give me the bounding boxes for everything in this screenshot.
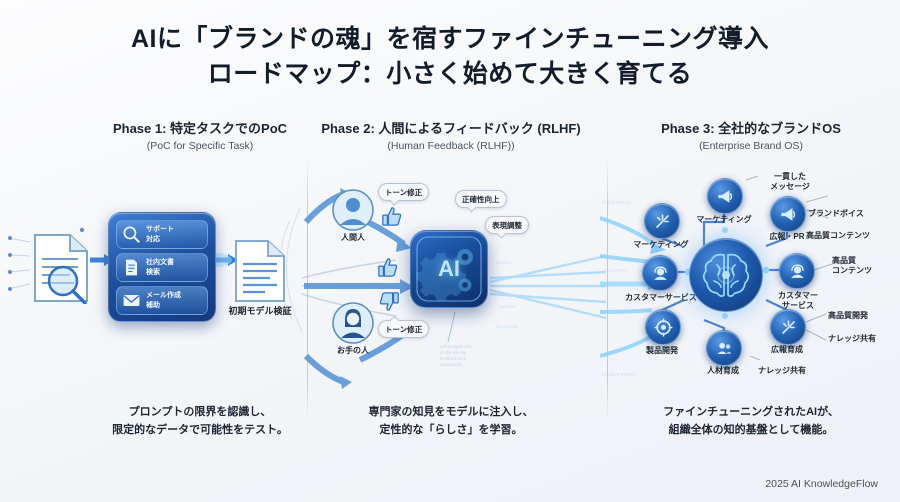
megaphone-icon (779, 205, 798, 224)
task-item-mail-assist[interactable]: メール作成 補助 (116, 286, 208, 315)
phase-2-title-en: (Human Feedback (RLHF)) (301, 140, 601, 152)
document-icon (122, 258, 141, 277)
node-marketing-top-label: マーケティング (669, 215, 779, 225)
page-title: AIに「ブランドの魂」を宿すファインチューニング導入 ロードマップ：小さく始めて… (0, 22, 900, 91)
gear-icon (654, 318, 673, 337)
task-item-document-search-label: 社内文書 検索 (146, 258, 174, 276)
megaphone-icon (716, 187, 735, 206)
phase-2-avatar-2-label: お手の人 (325, 346, 381, 356)
mail-icon (122, 291, 141, 310)
female-avatar-icon (332, 302, 374, 344)
outcome-high-quality-content: 高品質コンテンツ (806, 231, 900, 241)
thumbs-down-icon (378, 291, 400, 313)
feedback-bubble-1: トーン修正 (378, 183, 429, 201)
magnifier-icon (122, 225, 141, 244)
svg-text:optimization: optimization (440, 362, 463, 367)
phase-3-header: Phase 3: 全社的なブランドOS (Enterprise Brand OS… (601, 118, 900, 152)
svg-text:fine-tuning: fine-tuning (496, 324, 518, 329)
task-item-document-search[interactable]: 社内文書 検索 (116, 253, 208, 282)
phase-1-output-label: 初期モデル検証 (214, 306, 306, 317)
headset-icon (651, 264, 670, 283)
spark-icon (779, 318, 798, 337)
node-customer-service-right-label: カスタマー サービス (753, 291, 843, 311)
node-hr-development[interactable] (706, 330, 742, 366)
task-item-support[interactable]: サポート 対応 (116, 220, 208, 249)
headset-icon (788, 262, 807, 281)
brain-icon (690, 239, 762, 311)
outcome-knowledge-sharing: ナレッジ共有 (828, 334, 900, 344)
svg-text:feedback loop: feedback loop (440, 356, 467, 361)
node-marketing-top[interactable] (707, 178, 743, 214)
svg-text:creative energy: creative energy (602, 372, 637, 378)
node-pr[interactable] (770, 196, 806, 232)
node-customer-service-left[interactable] (642, 255, 678, 291)
thumbs-up-icon (381, 205, 403, 227)
node-product-development-label: 製品開発 (610, 346, 714, 356)
outcome-consistent-message: 一貫した メッセージ (753, 172, 827, 192)
phase-3-caption: ファインチューニングされたAIが、 組織全体の知的基盤として機能。 (601, 404, 900, 440)
svg-text:transfer: transfer (496, 260, 512, 265)
phase-3-title-en: (Enterprise Brand OS) (601, 140, 900, 152)
task-item-support-label: サポート 対応 (146, 225, 174, 243)
footer-credit: 2025 AI KnowledgeFlow (765, 478, 878, 490)
ai-core-label: AI (411, 231, 487, 307)
feedback-bubble-2: トーン修正 (378, 320, 429, 338)
task-item-mail-assist-label: メール作成 補助 (146, 291, 181, 309)
phase-2-header: Phase 2: 人間によるフィードバック (RLHF) (Human Feed… (301, 118, 601, 152)
outcome-knowledge-sharing-2: ナレッジ共有 (758, 366, 840, 376)
validated-model-document-icon (232, 238, 288, 304)
source-document-icon (30, 232, 92, 304)
title-line-2: ロードマップ：小さく始めて大きく育てる (0, 57, 900, 92)
title-line-1: AIに「ブランドの魂」を宿すファインチューニング導入 (0, 22, 900, 57)
svg-text:brand energy: brand energy (602, 200, 632, 206)
phase-1-task-panel: サポート 対応 社内文書 検索 メール作成 補助 (108, 212, 216, 322)
outcome-bubble-expression: 表現調整 (485, 216, 529, 234)
infographic-canvas: AIに「ブランドの魂」を宿すファインチューニング導入 ロードマップ：小さく始めて… (0, 0, 900, 502)
svg-text:pipeline: pipeline (500, 304, 516, 309)
phase-3-title-jp: Phase 3: 全社的なブランドOS (601, 118, 900, 137)
outcome-high-quality-content-2: 高品質 コンテンツ (832, 256, 900, 276)
svg-text:model training: model training (440, 350, 467, 355)
male-avatar-icon (332, 189, 374, 231)
outcome-high-quality-development: 高品質開発 (828, 311, 900, 321)
node-pr-training-label: 広報育成 (743, 345, 831, 355)
brand-os-hub (689, 238, 763, 312)
phase-2-title-jp: Phase 2: 人間によるフィードバック (RLHF) (301, 118, 601, 137)
node-hr-development-label: 人材育成 (679, 366, 767, 376)
phase-2-ai-core: AI (410, 230, 488, 308)
outcome-brand-voice: ブランドボイス (808, 209, 900, 219)
thumbs-up-icon (377, 256, 399, 278)
node-pr-training[interactable] (770, 309, 806, 345)
phase-2-avatar-1-label: 人間人 (327, 233, 379, 243)
people-icon (715, 339, 734, 358)
svg-text:soft analysis unit: soft analysis unit (440, 344, 472, 349)
node-product-development[interactable] (645, 309, 681, 345)
svg-text:consistency: consistency (602, 268, 629, 274)
node-customer-service-right[interactable] (779, 253, 815, 289)
phase-2-caption: 専門家の知見をモデルに注入し、 定性的な「らしさ」を学習。 (301, 404, 601, 440)
outcome-bubble-accuracy: 正確性向上 (455, 190, 507, 208)
